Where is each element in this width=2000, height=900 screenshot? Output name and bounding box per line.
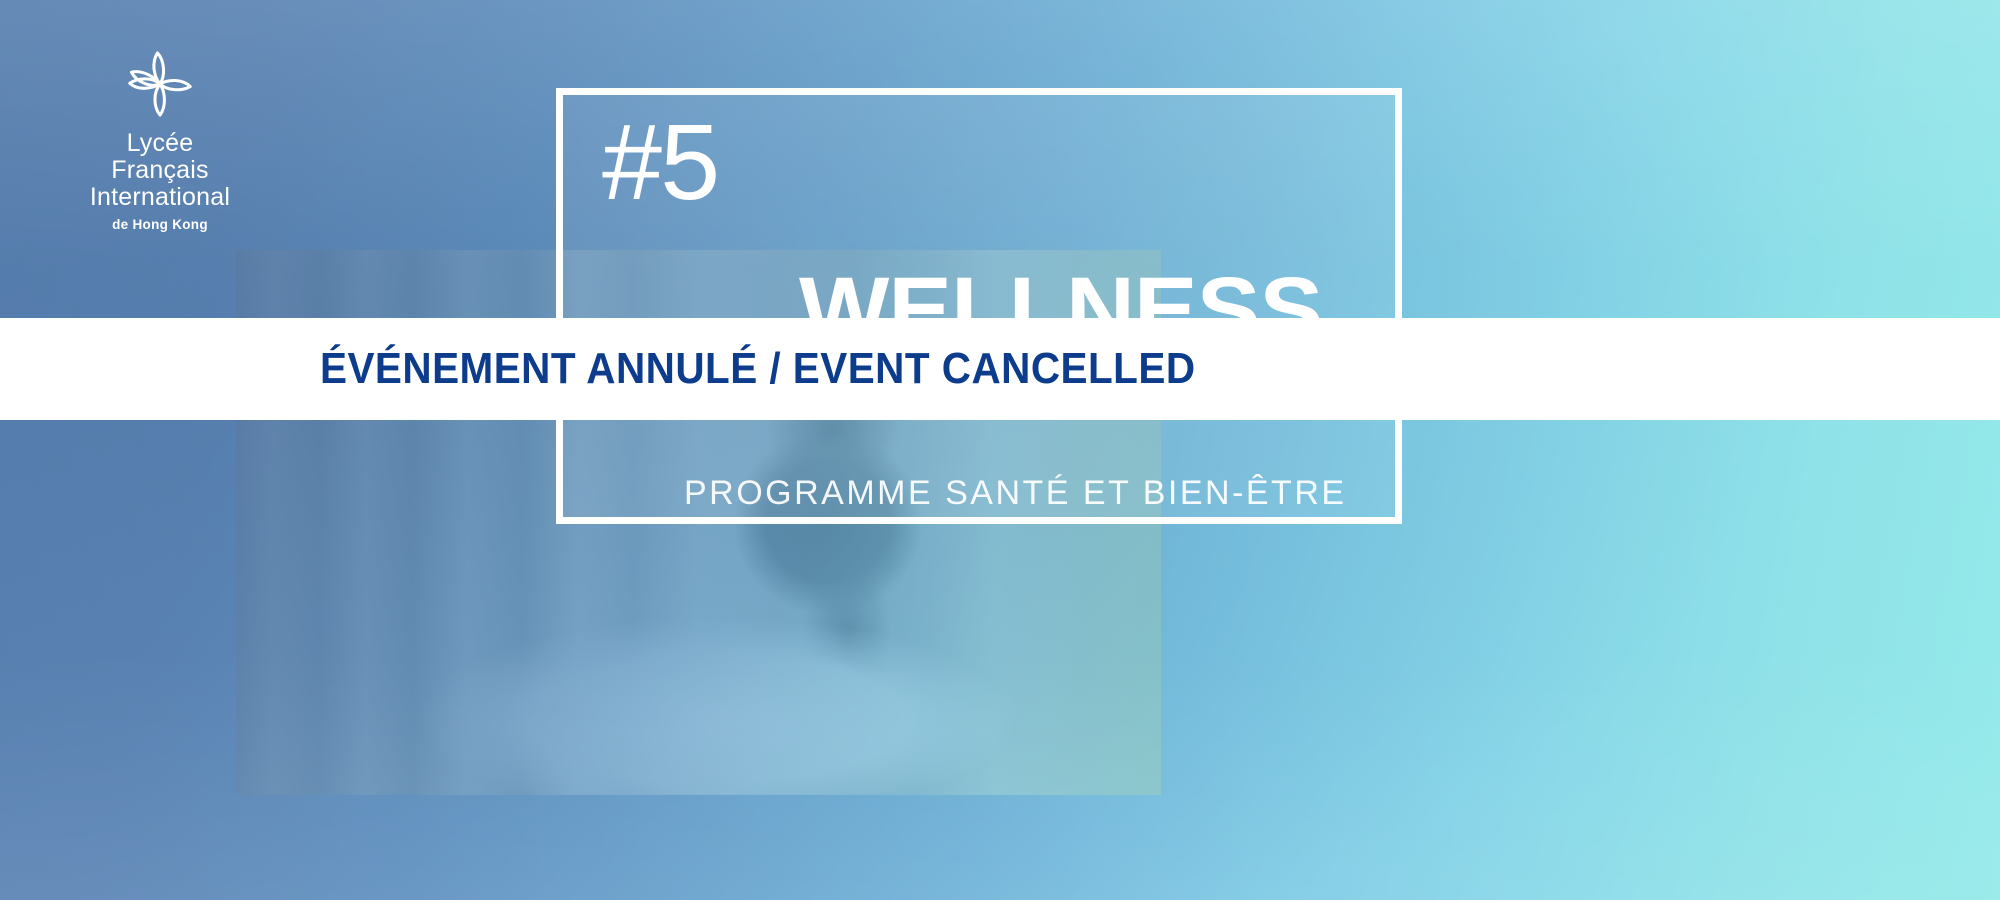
school-logo: Lycée Français International de Hong Kon…: [60, 42, 260, 236]
logo-line-4: de Hong Kong: [90, 214, 230, 236]
logo-line-3: International: [90, 184, 230, 211]
logo-wordmark: Lycée Français International de Hong Kon…: [90, 130, 230, 236]
cancellation-banner: ÉVÉNEMENT ANNULÉ / EVENT CANCELLED: [0, 318, 2000, 420]
event-banner-graphic: #5 WELLNESS PROGRAMME PROGRAMME SANTÉ ET…: [0, 0, 2000, 900]
logo-line-2: Français: [90, 157, 230, 184]
title-frame-border: [556, 88, 1402, 524]
logo-line-1: Lycée: [90, 130, 230, 157]
five-petal-flower-icon: [118, 42, 202, 126]
title-frame-fill: [563, 95, 1395, 517]
cancellation-text: ÉVÉNEMENT ANNULÉ / EVENT CANCELLED: [320, 344, 1196, 394]
